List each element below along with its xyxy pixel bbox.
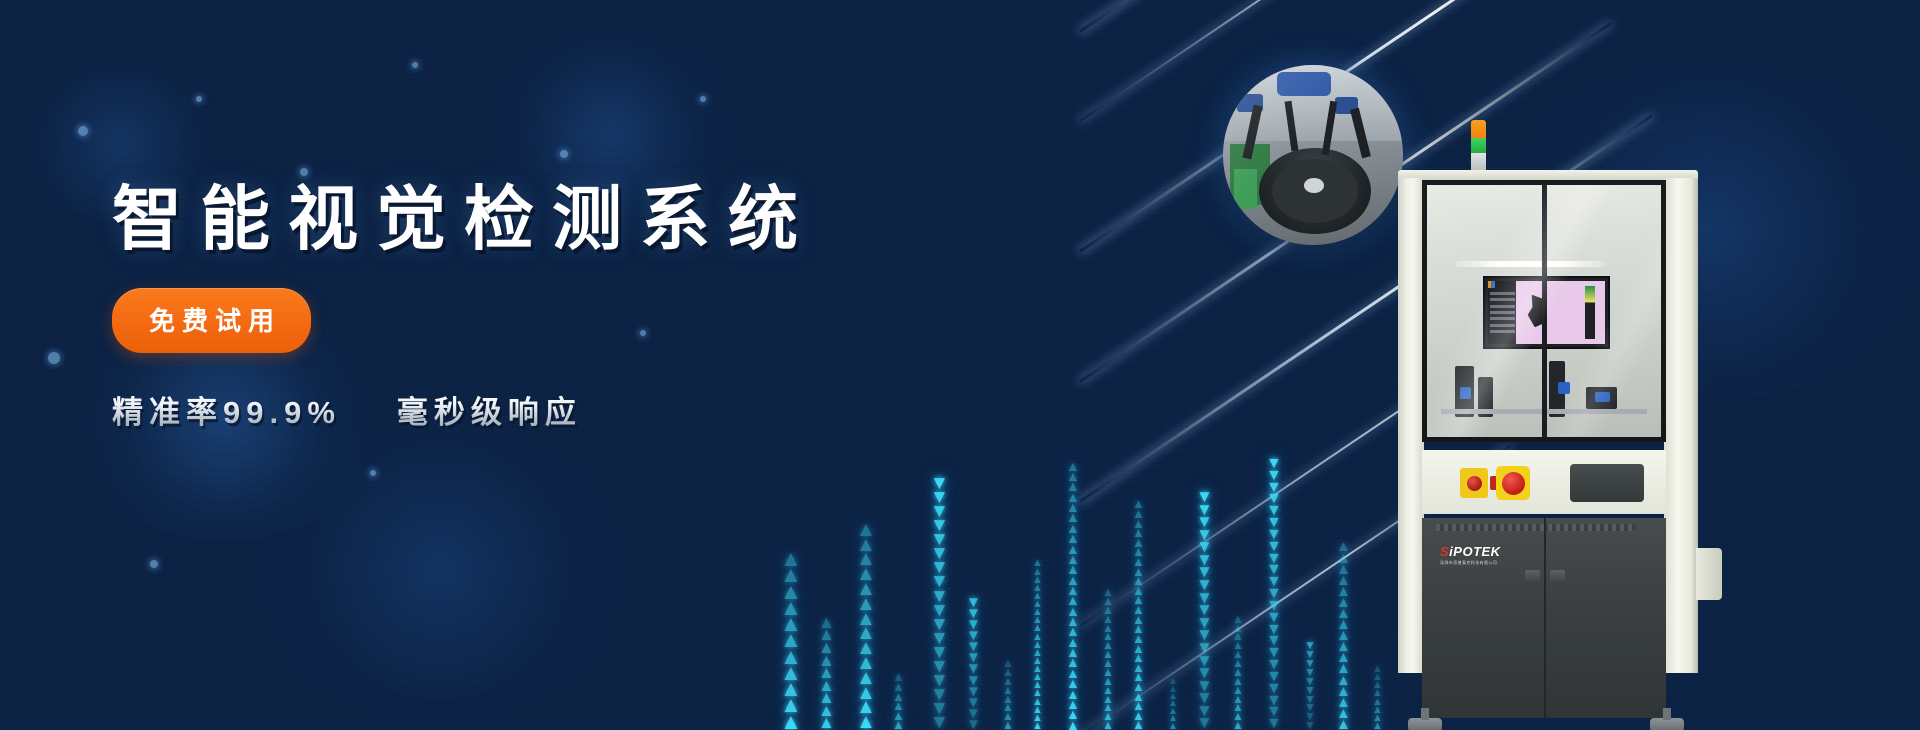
arrow-glyph: ▼ <box>930 660 949 674</box>
arrow-glyph: ▼ <box>1266 541 1282 553</box>
arrow-column: ▲▲▲▲▲▲ <box>892 672 905 730</box>
arrow-glyph: ▲ <box>1066 616 1080 626</box>
sparkle-dot <box>78 126 88 136</box>
arrow-glyph: ▲ <box>1336 697 1351 708</box>
arrow-glyph: ▲ <box>1372 698 1383 706</box>
arrow-glyph: ▼ <box>1196 705 1213 718</box>
arrow-column: ▲▲▲▲▲▲▲ <box>1168 678 1178 730</box>
arrow-glyph: ▲ <box>1132 711 1145 721</box>
arrow-glyph: ▲ <box>856 656 876 671</box>
arrow-glyph: ▲ <box>1032 649 1043 657</box>
arrow-glyph: ▲ <box>1232 712 1244 721</box>
arrow-glyph: ▲ <box>1066 533 1080 543</box>
arrow-glyph: ▼ <box>966 686 981 697</box>
arrow-glyph: ▲ <box>1066 512 1080 522</box>
arrow-glyph: ▼ <box>1196 516 1213 529</box>
arrow-glyph: ▼ <box>930 519 949 533</box>
arrow-glyph: ▼ <box>930 547 949 561</box>
arrow-column: ▼▼▼▼▼▼▼▼▼▼▼▼▼▼▼▼▼▼▼▼▼▼▼ <box>1266 458 1282 730</box>
logo-initial: S <box>1440 544 1449 559</box>
arrow-glyph: ▼ <box>1196 579 1213 592</box>
arrow-glyph: ▲ <box>1336 641 1351 652</box>
arrow-glyph: ▲ <box>1336 652 1351 663</box>
arrow-glyph: ▲ <box>1002 659 1014 668</box>
arrow-glyph: ▲ <box>1132 509 1145 519</box>
arrow-glyph: ▲ <box>780 567 802 583</box>
arrow-glyph: ▲ <box>1336 663 1351 674</box>
arrow-glyph: ▲ <box>856 641 876 656</box>
cabinet-handle-left[interactable] <box>1525 570 1540 583</box>
arrow-glyph: ▼ <box>930 477 949 491</box>
arrow-glyph: ▼ <box>1196 629 1213 642</box>
arrow-glyph: ▲ <box>1132 682 1145 692</box>
arrow-glyph: ▲ <box>1102 712 1114 721</box>
arrow-glyph: ▲ <box>1132 567 1145 577</box>
arrow-glyph: ▼ <box>930 561 949 575</box>
arrow-glyph: ▼ <box>1304 703 1316 712</box>
arrow-glyph: ▼ <box>930 533 949 547</box>
arrow-glyph: ▲ <box>1132 624 1145 634</box>
arrow-glyph: ▲ <box>1336 597 1351 608</box>
arrow-glyph: ▲ <box>1002 703 1014 712</box>
arrow-glyph: ▼ <box>1266 493 1282 505</box>
arrow-glyph: ▲ <box>1066 502 1080 512</box>
arrow-glyph: ▲ <box>1132 595 1145 605</box>
arrow-glyph: ▲ <box>1132 519 1145 529</box>
arrow-glyph: ▼ <box>930 702 949 716</box>
arrow-glyph: ▼ <box>1304 668 1316 677</box>
arrow-glyph: ▲ <box>856 626 876 641</box>
arrow-glyph: ▲ <box>1372 706 1383 714</box>
arrow-glyph: ▲ <box>780 665 802 681</box>
arrow-glyph: ▼ <box>930 604 949 618</box>
arrow-glyph: ▲ <box>1032 641 1043 649</box>
arrow-glyph: ▲ <box>1336 708 1351 719</box>
arrow-glyph: ▲ <box>1002 695 1014 704</box>
arrow-glyph: ▼ <box>1196 692 1213 705</box>
arrow-glyph: ▲ <box>892 701 905 711</box>
tower-light-green <box>1471 138 1486 153</box>
arrow-glyph: ▲ <box>1032 722 1043 730</box>
machine-viewing-window <box>1422 180 1666 442</box>
arrow-column: ▲▲▲▲▲▲▲▲▲▲▲▲▲▲▲▲▲ <box>1336 541 1351 730</box>
arrow-glyph: ▼ <box>1196 592 1213 605</box>
light-streak <box>1079 0 1595 33</box>
arrow-glyph: ▲ <box>1032 592 1043 600</box>
arrow-glyph: ▲ <box>1336 630 1351 641</box>
arrow-glyph: ▲ <box>1066 647 1080 657</box>
arrow-glyph: ▼ <box>1196 655 1213 668</box>
machine-pillar-left <box>1398 178 1424 673</box>
background-glow-bottom <box>230 420 650 720</box>
arrow-column: ▲▲▲▲▲▲▲▲▲▲▲▲▲▲▲▲ <box>1102 588 1114 730</box>
emergency-stop-button[interactable] <box>1496 466 1530 500</box>
arrow-glyph: ▲ <box>892 682 905 692</box>
sparkle-dot <box>48 352 60 364</box>
arrow-glyph: ▲ <box>1372 689 1383 697</box>
arrow-glyph: ▲ <box>1336 719 1351 730</box>
arrow-glyph: ▼ <box>930 491 949 505</box>
arrow-glyph: ▼ <box>966 675 981 686</box>
machine-pillar-right <box>1664 178 1698 673</box>
arrow-glyph: ▼ <box>930 646 949 660</box>
arrow-glyph: ▼ <box>1266 612 1282 624</box>
arrow-glyph: ▼ <box>966 619 981 630</box>
arrow-glyph: ▼ <box>1196 717 1213 730</box>
arrow-glyph: ▼ <box>1266 482 1282 494</box>
arrow-glyph: ▲ <box>856 686 876 701</box>
arrow-glyph: ▲ <box>780 681 802 697</box>
arrow-glyph: ▲ <box>780 600 802 616</box>
arrow-glyph: ▼ <box>1266 564 1282 576</box>
arrow-glyph: ▲ <box>1372 673 1383 681</box>
arrow-glyph: ▲ <box>1336 608 1351 619</box>
arrow-glyph: ▲ <box>818 617 835 630</box>
tower-light-amber <box>1471 120 1486 138</box>
arrow-glyph: ▲ <box>1132 653 1145 663</box>
arrow-glyph: ▼ <box>1304 650 1316 659</box>
arrow-glyph: ▲ <box>1168 708 1178 715</box>
arrow-glyph: ▲ <box>1002 668 1014 677</box>
arrow-glyph: ▼ <box>1266 706 1282 718</box>
arrow-glyph: ▼ <box>1304 712 1316 721</box>
arrow-glyph: ▲ <box>780 551 802 567</box>
arrow-glyph: ▼ <box>1304 659 1316 668</box>
arrow-glyph: ▼ <box>1266 600 1282 612</box>
arrow-column: ▲▲▲▲▲▲▲▲▲ <box>818 617 835 730</box>
arrow-glyph: ▲ <box>1336 564 1351 575</box>
arrow-glyph: ▲ <box>1132 499 1145 509</box>
arrow-glyph: ▲ <box>1102 721 1114 730</box>
arrow-glyph: ▲ <box>1066 595 1080 605</box>
machine-base <box>1402 718 1694 730</box>
arrow-glyph: ▲ <box>856 597 876 612</box>
arrow-glyph: ▲ <box>1132 547 1145 557</box>
arrow-glyph: ▲ <box>1102 615 1114 624</box>
arrow-glyph: ▲ <box>1372 665 1383 673</box>
arrow-glyph: ▼ <box>1196 667 1213 680</box>
arrow-glyph: ▲ <box>1066 481 1080 491</box>
arrow-glyph: ▲ <box>1066 678 1080 688</box>
arrow-glyph: ▲ <box>1102 624 1114 633</box>
arrow-glyph: ▲ <box>892 720 905 730</box>
arrow-glyph: ▲ <box>818 655 835 668</box>
arrow-glyph: ▼ <box>1304 721 1316 730</box>
machine-body: SiPOTEK 深圳市思普泰克科技有限公司 <box>1398 178 1698 708</box>
arrow-glyph: ▲ <box>1066 689 1080 699</box>
arrow-glyph: ▲ <box>780 714 802 730</box>
arrow-glyph: ▲ <box>856 582 876 597</box>
cabinet-handle-right[interactable] <box>1550 570 1565 583</box>
arrow-glyph: ▲ <box>1232 695 1244 704</box>
arrow-glyph: ▼ <box>966 641 981 652</box>
arrow-glyph: ▲ <box>1336 619 1351 630</box>
arrow-glyph: ▲ <box>818 717 835 730</box>
arrow-glyph: ▼ <box>1196 541 1213 554</box>
arrow-column: ▲▲▲▲▲▲▲▲▲▲▲▲▲▲▲▲▲▲▲▲▲▲▲▲ <box>1132 499 1145 730</box>
arrow-glyph: ▼ <box>930 590 949 604</box>
arrow-glyph: ▲ <box>856 715 876 730</box>
arrow-glyph: ▲ <box>1232 632 1244 641</box>
arrow-glyph: ▼ <box>966 708 981 719</box>
arrow-glyph: ▲ <box>1132 615 1145 625</box>
arrow-glyph: ▲ <box>780 616 802 632</box>
arrow-glyph: ▲ <box>1102 686 1114 695</box>
arrow-glyph: ▲ <box>1132 538 1145 548</box>
arrow-column: ▲▲▲▲▲▲▲▲▲▲▲▲▲ <box>1232 615 1244 730</box>
sparkle-dot <box>196 96 202 102</box>
arrow-glyph: ▲ <box>1372 681 1383 689</box>
arrow-glyph: ▲ <box>1168 700 1178 707</box>
arrow-glyph: ▲ <box>1132 663 1145 673</box>
sparkle-dot <box>150 560 158 568</box>
arrow-glyph: ▼ <box>966 597 981 608</box>
arrow-glyph: ▲ <box>1032 568 1043 576</box>
arrow-glyph: ▲ <box>1372 722 1383 730</box>
arrow-column: ▲▲▲▲▲▲▲▲▲▲▲ <box>780 551 802 730</box>
arrow-glyph: ▲ <box>1102 668 1114 677</box>
arrow-glyph: ▲ <box>1066 544 1080 554</box>
arrow-glyph: ▼ <box>1266 695 1282 707</box>
arrow-column: ▲▲▲▲▲▲▲▲▲▲▲▲▲▲ <box>856 523 876 730</box>
arrow-glyph: ▲ <box>1066 657 1080 667</box>
arrow-glyph: ▲ <box>1102 703 1114 712</box>
arrow-glyph: ▲ <box>1002 677 1014 686</box>
arrow-glyph: ▼ <box>1266 671 1282 683</box>
arrow-glyph: ▲ <box>1132 557 1145 567</box>
arrow-glyph: ▲ <box>1168 723 1178 730</box>
inspection-machine-photo: SiPOTEK 深圳市思普泰克科技有限公司 <box>1398 120 1708 730</box>
arrow-glyph: ▼ <box>1266 458 1282 470</box>
arrow-glyph: ▲ <box>818 667 835 680</box>
arrow-glyph: ▲ <box>856 700 876 715</box>
arrow-glyph: ▲ <box>1336 553 1351 564</box>
arrow-glyph: ▲ <box>1066 492 1080 502</box>
arrow-glyph: ▲ <box>856 538 876 553</box>
arrow-column: ▲▲▲▲▲▲▲▲ <box>1372 665 1383 730</box>
arrow-glyph: ▲ <box>1002 721 1014 730</box>
arrow-glyph: ▼ <box>1266 635 1282 647</box>
sparkle-dot <box>700 96 706 102</box>
arrow-glyph: ▲ <box>1066 523 1080 533</box>
arrow-glyph: ▲ <box>1066 626 1080 636</box>
sparkle-dot <box>300 168 308 176</box>
arrow-glyph: ▲ <box>1232 659 1244 668</box>
arrow-glyph: ▲ <box>1066 471 1080 481</box>
arrow-glyph: ▼ <box>966 652 981 663</box>
arrow-glyph: ▲ <box>1066 575 1080 585</box>
arrow-glyph: ▲ <box>818 642 835 655</box>
arrow-glyph: ▲ <box>1336 686 1351 697</box>
arrow-glyph: ▲ <box>1066 606 1080 616</box>
arrow-glyph: ▲ <box>1066 564 1080 574</box>
arrow-glyph: ▼ <box>930 632 949 646</box>
logo-wordmark: iPOTEK <box>1449 544 1500 559</box>
arrow-glyph: ▼ <box>1266 588 1282 600</box>
arrow-glyph: ▲ <box>1168 686 1178 693</box>
arrow-glyph: ▲ <box>1032 665 1043 673</box>
accuracy-text: 精准率99.9% <box>112 395 341 430</box>
arrow-glyph: ▼ <box>966 630 981 641</box>
arrow-glyph: ▲ <box>1132 692 1145 702</box>
arrow-glyph: ▼ <box>1304 677 1316 686</box>
arrow-glyph: ▲ <box>1066 720 1080 730</box>
arrow-glyph: ▲ <box>818 629 835 642</box>
arrow-glyph: ▲ <box>1168 715 1178 722</box>
arrow-column: ▼▼▼▼▼▼▼▼▼▼ <box>1304 641 1316 730</box>
arrow-glyph: ▲ <box>1168 693 1178 700</box>
arrow-glyph: ▲ <box>1066 709 1080 719</box>
glass-glare <box>1427 185 1661 437</box>
arrow-glyph: ▼ <box>1196 680 1213 693</box>
arrow-glyph: ▼ <box>1196 491 1213 504</box>
arrow-glyph: ▼ <box>1266 470 1282 482</box>
sparkle-dot <box>370 470 376 476</box>
arrow-glyph: ▲ <box>892 672 905 682</box>
arrow-glyph: ▲ <box>1032 600 1043 608</box>
arrow-glyph: ▲ <box>1232 686 1244 695</box>
arrow-column: ▼▼▼▼▼▼▼▼▼▼▼▼ <box>966 597 981 730</box>
arrow-glyph: ▲ <box>1102 677 1114 686</box>
arrow-glyph: ▲ <box>1102 632 1114 641</box>
arrow-glyph: ▼ <box>1266 647 1282 659</box>
response-text: 毫秒级响应 <box>397 395 582 430</box>
machine-glass-door <box>1427 185 1661 437</box>
arrow-glyph: ▲ <box>856 671 876 686</box>
arrow-glyph: ▲ <box>1066 699 1080 709</box>
leveling-foot-left <box>1408 718 1442 730</box>
arrow-glyph: ▲ <box>1066 461 1080 471</box>
arrow-glyph: ▲ <box>780 649 802 665</box>
sparkle-dot <box>412 62 418 68</box>
machine-lower-cabinet: SiPOTEK 深圳市思普泰克科技有限公司 <box>1422 518 1666 718</box>
arrow-glyph: ▼ <box>1266 718 1282 730</box>
arrow-glyph: ▲ <box>1132 605 1145 615</box>
arrow-column: ▲▲▲▲▲▲▲▲ <box>1002 659 1014 730</box>
arrow-glyph: ▼ <box>1196 529 1213 542</box>
machine-brand-logo: SiPOTEK 深圳市思普泰克科技有限公司 <box>1440 544 1501 566</box>
arrow-glyph: ▲ <box>1032 633 1043 641</box>
arrow-glyph: ▲ <box>1002 712 1014 721</box>
arrow-glyph: ▲ <box>856 612 876 627</box>
arrow-glyph: ▲ <box>1032 657 1043 665</box>
arrow-glyph: ▲ <box>1336 586 1351 597</box>
arrow-glyph: ▲ <box>1102 606 1114 615</box>
cabinet-vent <box>1436 524 1636 531</box>
arrow-glyph: ▼ <box>1266 624 1282 636</box>
logo-company-name-cn: 深圳市思普泰克科技有限公司 <box>1440 560 1501 566</box>
cabinet-door-split <box>1544 518 1546 718</box>
arrow-glyph: ▼ <box>1266 553 1282 565</box>
arrow-glyph: ▲ <box>1102 597 1114 606</box>
arrow-glyph: ▲ <box>1372 714 1383 722</box>
arrow-glyph: ▲ <box>1102 695 1114 704</box>
arrow-glyph: ▼ <box>1266 517 1282 529</box>
arrow-glyph: ▼ <box>1196 604 1213 617</box>
arrow-glyph: ▲ <box>1032 608 1043 616</box>
arrow-glyph: ▲ <box>1032 559 1043 567</box>
arrow-glyph: ▲ <box>818 692 835 705</box>
power-switch[interactable] <box>1460 468 1488 498</box>
arrow-glyph: ▲ <box>856 523 876 538</box>
sparkle-dot <box>560 150 568 158</box>
arrow-glyph: ▲ <box>1066 637 1080 647</box>
arrow-glyph: ▲ <box>1132 586 1145 596</box>
arrow-glyph: ▲ <box>1032 584 1043 592</box>
arrow-glyph: ▲ <box>1032 673 1043 681</box>
arrow-column: ▼▼▼▼▼▼▼▼▼▼▼▼▼▼▼▼▼▼ <box>930 477 949 730</box>
arrow-glyph: ▼ <box>1266 505 1282 517</box>
arrow-glyph: ▼ <box>1196 504 1213 517</box>
hero-text-block: 智能视觉检测系统 免费试用 精准率99.9% | 毫秒级响应 <box>112 180 1012 432</box>
arrow-glyph: ▲ <box>1102 588 1114 597</box>
machine-control-panel <box>1422 450 1666 514</box>
arrow-glyph: ▲ <box>892 692 905 702</box>
arrow-glyph: ▲ <box>1032 689 1043 697</box>
arrow-glyph: ▲ <box>1132 576 1145 586</box>
arrow-glyph: ▲ <box>1066 554 1080 564</box>
arrow-glyph: ▼ <box>930 618 949 632</box>
arrow-glyph: ▲ <box>1132 720 1145 730</box>
control-display-panel <box>1570 464 1644 502</box>
arrow-glyph: ▲ <box>1032 698 1043 706</box>
machine-side-tab <box>1696 548 1722 600</box>
arrow-glyph: ▼ <box>930 505 949 519</box>
arrow-glyph: ▼ <box>1196 554 1213 567</box>
leveling-foot-right <box>1650 718 1684 730</box>
arrow-glyph: ▲ <box>1232 668 1244 677</box>
arrow-glyph: ▼ <box>966 608 981 619</box>
arrow-glyph: ▲ <box>1032 714 1043 722</box>
arrow-glyph: ▲ <box>1066 585 1080 595</box>
subline-separator: | <box>356 395 383 430</box>
arrow-glyph: ▲ <box>780 584 802 600</box>
hero-banner: ▲▲▲▲▲▲▲▲▲▲▲▲▲▲▲▲▲▲▲▲▲▲▲▲▲▲▲▲▲▲▲▲▲▲▲▲▲▲▲▲… <box>0 0 1920 730</box>
arrow-glyph: ▲ <box>856 567 876 582</box>
arrow-glyph: ▲ <box>1032 624 1043 632</box>
arrow-glyph: ▲ <box>780 632 802 648</box>
free-trial-button[interactable]: 免费试用 <box>112 288 311 353</box>
arrow-glyph: ▼ <box>1196 566 1213 579</box>
arrow-glyph: ▼ <box>1266 683 1282 695</box>
arrow-glyph: ▲ <box>1102 641 1114 650</box>
arrow-glyph: ▲ <box>780 697 802 713</box>
arrow-glyph: ▲ <box>1032 706 1043 714</box>
arrow-glyph: ▼ <box>966 697 981 708</box>
arrow-glyph: ▲ <box>1336 575 1351 586</box>
arrow-glyph: ▼ <box>1196 617 1213 630</box>
arrow-glyph: ▲ <box>1032 616 1043 624</box>
arrow-glyph: ▲ <box>1132 634 1145 644</box>
arrow-glyph: ▼ <box>1266 576 1282 588</box>
arrow-column: ▲▲▲▲▲▲▲▲▲▲▲▲▲▲▲▲▲▲▲▲▲▲▲▲▲▲ <box>1066 461 1080 730</box>
arrow-glyph: ▼ <box>1304 686 1316 695</box>
arrow-glyph: ▲ <box>818 705 835 718</box>
arrow-glyph: ▼ <box>930 575 949 589</box>
arrow-glyph: ▲ <box>1032 681 1043 689</box>
arrow-glyph: ▼ <box>966 663 981 674</box>
arrow-glyph: ▲ <box>1232 641 1244 650</box>
arrow-glyph: ▼ <box>1266 659 1282 671</box>
arrow-glyph: ▲ <box>1168 678 1178 685</box>
arrow-glyph: ▲ <box>1232 615 1244 624</box>
arrow-glyph: ▲ <box>1002 686 1014 695</box>
arrow-glyph: ▲ <box>1132 644 1145 654</box>
arrow-column: ▲▲▲▲▲▲▲▲▲▲▲▲▲▲▲▲▲▲▲▲▲ <box>1032 559 1043 730</box>
arrow-glyph: ▲ <box>1232 677 1244 686</box>
arrow-glyph: ▼ <box>1304 641 1316 650</box>
arrow-glyph: ▲ <box>1232 650 1244 659</box>
